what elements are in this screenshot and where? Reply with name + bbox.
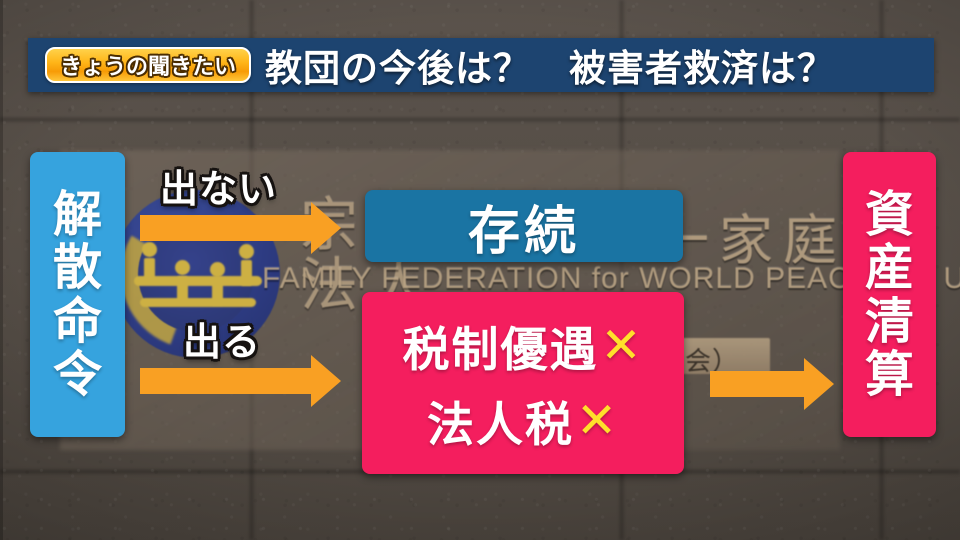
- kicker-label: きょうの聞きたい: [60, 49, 236, 81]
- arrow-to-asset-liquidation-icon: [710, 358, 834, 410]
- flow-node-tax-consequences: 税制優遇 ✕ 法人税 ✕: [362, 292, 684, 474]
- cross-mark-icon-2: ✕: [576, 396, 619, 445]
- asset-liquidation-char-1: 資: [865, 188, 914, 241]
- program-kicker-badge: きょうの聞きたい: [45, 47, 251, 83]
- tax-consequence-row-1: 税制優遇 ✕: [402, 311, 643, 380]
- cross-mark-icon-1: ✕: [600, 321, 643, 370]
- asset-liquidation-char-4: 算: [865, 348, 914, 401]
- arrow-label-order-issued: 出る: [183, 311, 261, 366]
- tax-consequence-row-2: 法人税 ✕: [427, 386, 619, 455]
- dissolution-order-char-1: 解: [53, 188, 102, 241]
- corporate-tax-label: 法人税: [427, 386, 574, 455]
- dissolution-order-char-3: 命: [53, 295, 102, 348]
- arrow-label-no-order: 出ない: [160, 158, 277, 213]
- flow-node-asset-liquidation: 資 産 清 算: [843, 152, 936, 437]
- flow-node-dissolution-order: 解 散 命 令: [30, 152, 125, 437]
- headline-bar: きょうの聞きたい 教団の今後は？ 被害者救済は？: [28, 38, 934, 92]
- page-title: 教団の今後は？ 被害者救済は？: [265, 38, 835, 92]
- dissolution-order-char-4: 令: [53, 348, 102, 401]
- dissolution-order-char-2: 散: [53, 241, 102, 294]
- continuation-label: 存続: [468, 189, 580, 264]
- asset-liquidation-char-3: 清: [865, 295, 914, 348]
- tax-preference-label: 税制優遇: [402, 311, 598, 380]
- asset-liquidation-char-2: 産: [865, 241, 914, 294]
- flow-node-continuation: 存続: [365, 190, 683, 262]
